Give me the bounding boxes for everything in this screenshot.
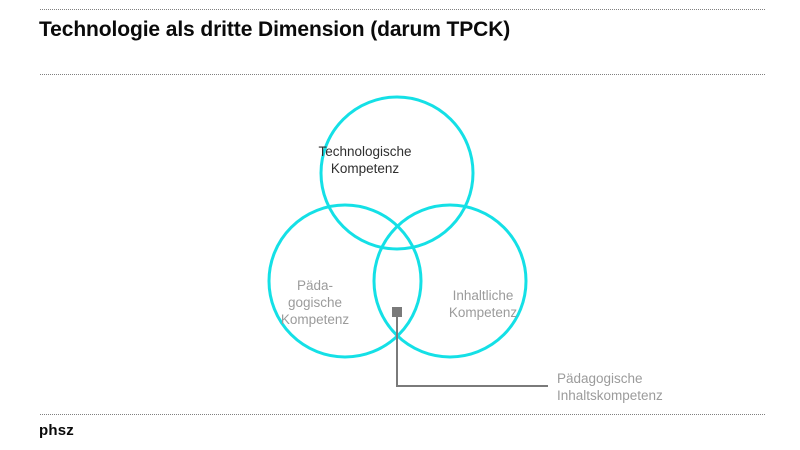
divider-under-title	[40, 74, 765, 75]
slide-canvas: Technologie als dritte Dimension (darum …	[0, 0, 800, 450]
divider-footer	[40, 414, 765, 415]
callout-leader-horizontal-line	[396, 385, 548, 387]
callout-leader-vertical-line	[396, 315, 398, 386]
footer-brand-logo: phsz	[39, 422, 74, 439]
venn-circles-svg	[230, 85, 580, 385]
venn-diagram: Technologische Kompetenz Päda- gogische …	[230, 85, 580, 385]
page-title: Technologie als dritte Dimension (darum …	[39, 17, 759, 43]
venn-label-technologische: Technologische Kompetenz	[300, 143, 430, 177]
divider-top	[40, 9, 765, 10]
callout-label: Pädagogische Inhaltskompetenz	[557, 370, 767, 404]
venn-label-paedagogische: Päda- gogische Kompetenz	[250, 277, 380, 328]
venn-label-inhaltliche: Inhaltliche Kompetenz	[418, 287, 548, 321]
